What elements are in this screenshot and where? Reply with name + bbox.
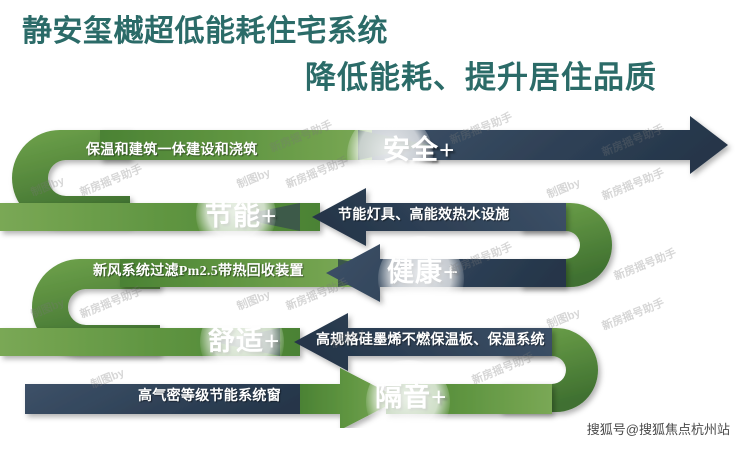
process-row-3: [120, 244, 566, 302]
serpentine-process-diagram: [0, 108, 740, 428]
slide-canvas: 静安玺樾超低能耗住宅系统 降低能耗、提升居住品质: [0, 0, 740, 450]
footer-credit: 搜狐号@搜狐焦点杭州站: [587, 419, 730, 438]
page-title: 静安玺樾超低能耗住宅系统: [22, 6, 388, 50]
process-row-5: [25, 368, 552, 428]
page-subtitle: 降低能耗、提升居住品质: [305, 52, 657, 97]
process-row-4: [0, 313, 552, 371]
process-row-1: [100, 116, 728, 184]
